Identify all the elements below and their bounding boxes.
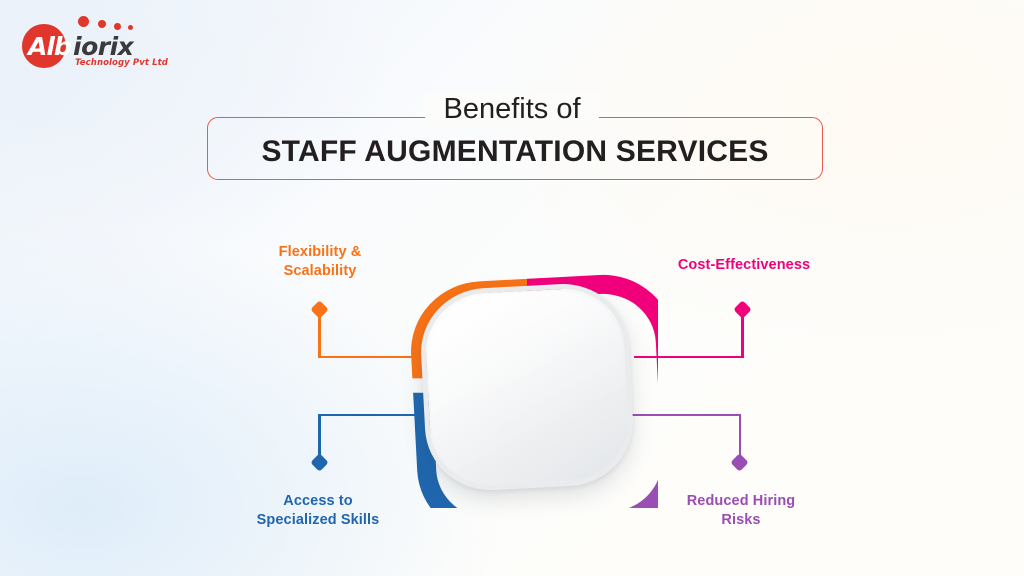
- connector-node-access: [310, 453, 328, 471]
- benefit-label-line2: Scalability: [236, 262, 404, 281]
- connector-segment: [318, 414, 320, 459]
- logo-dot-icon: [128, 25, 133, 30]
- company-logo[interactable]: Alb iorix Technology Pvt Ltd: [18, 10, 208, 72]
- logo-dot-icon: [114, 23, 121, 30]
- logo-dot-icon: [98, 20, 106, 28]
- connector-node-risk: [730, 453, 748, 471]
- logo-dot-icon: [78, 16, 89, 27]
- connector-segment: [739, 414, 741, 459]
- central-hub: [396, 268, 658, 508]
- benefit-label-flexibility-scalability: Flexibility & Scalability: [236, 243, 404, 281]
- benefit-label-line1: Reduced Hiring: [650, 492, 832, 511]
- benefit-label-line2: Specialized Skills: [228, 511, 408, 530]
- logo-text-primary: Alb: [28, 32, 71, 61]
- page-title: STAFF AUGMENTATION SERVICES: [261, 137, 768, 179]
- hub-plate: [418, 281, 636, 494]
- benefit-label-line1: Flexibility &: [236, 243, 404, 262]
- benefit-label-access-specialized-skills: Access to Specialized Skills: [228, 492, 408, 530]
- benefit-label-line1: Cost-Effectiveness: [654, 256, 834, 275]
- benefit-label-line2: Risks: [650, 511, 832, 530]
- benefit-label-reduced-hiring-risks: Reduced Hiring Risks: [650, 492, 832, 530]
- infographic-canvas: Alb iorix Technology Pvt Ltd STAFF AUGME…: [0, 0, 1024, 576]
- title-frame: STAFF AUGMENTATION SERVICES: [207, 117, 823, 180]
- benefit-label-cost-effectiveness: Cost-Effectiveness: [654, 256, 834, 275]
- connector-segment: [741, 313, 743, 358]
- connector-segment: [318, 313, 320, 358]
- benefit-label-line1: Access to: [228, 492, 408, 511]
- logo-text-secondary: iorix: [73, 32, 133, 61]
